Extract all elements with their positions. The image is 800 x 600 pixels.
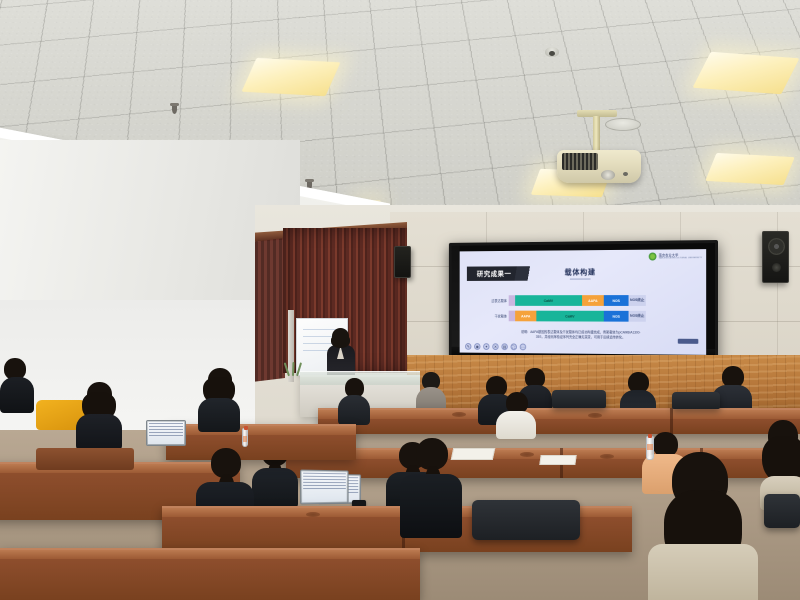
desk-front-panel xyxy=(0,559,420,600)
water-bottle[interactable] xyxy=(242,428,248,447)
construct-block-terminator: NOS xyxy=(604,295,629,306)
water-bottle[interactable] xyxy=(646,436,654,460)
display-bezel-left xyxy=(452,246,460,358)
ceiling-panel-light xyxy=(705,153,795,185)
attendee-torso xyxy=(648,544,758,600)
desk-surface xyxy=(166,426,356,435)
left-wall-speaker xyxy=(394,246,411,278)
projector-vent-grill xyxy=(562,153,598,170)
presentation-toolbar[interactable]: ✎ ◉ ✦ ✕ ▤ ⛶ ⋯ xyxy=(465,343,526,350)
laptop[interactable] xyxy=(146,420,186,446)
logo-name-en: NANJING AGRICULTURAL UNIVERSITY xyxy=(659,257,703,260)
seat-back[interactable] xyxy=(552,390,606,408)
ceiling-smoke-detector-icon xyxy=(545,47,559,57)
slide-canvas[interactable]: 南京农业大学 NANJING AGRICULTURAL UNIVERSITY 研… xyxy=(460,249,706,355)
seat-back[interactable] xyxy=(764,494,800,528)
sprinkler-head xyxy=(172,105,177,114)
ceiling-panel-light xyxy=(692,52,799,94)
eraser-icon[interactable]: ✕ xyxy=(492,343,498,350)
construct-block-promoter: CaMV xyxy=(515,295,582,306)
attendee xyxy=(496,392,536,432)
construct-block-end: NOS终止 xyxy=(629,295,646,306)
attendee-torso xyxy=(338,395,370,425)
gene-construct-row: 过表达载体 CaMV AAPA NOS NOS终止 xyxy=(485,295,646,306)
slide-caption: 说明：AAPA基因的表达载体及干扰载体均已成功构建完成，骨架载体为pCAMBIA… xyxy=(481,330,682,341)
attendee xyxy=(76,382,122,444)
attendee-torso xyxy=(400,474,462,538)
projector-lens xyxy=(601,170,615,180)
desk-surface xyxy=(318,410,800,419)
attendee-torso xyxy=(0,377,34,413)
attendee-torso xyxy=(496,411,536,439)
construct-block-promoter: CaMV xyxy=(536,311,603,322)
laptop-screen-content xyxy=(149,423,183,436)
ceiling-panel-light xyxy=(241,58,340,97)
laptop-screen-content xyxy=(303,473,346,491)
bottle-label xyxy=(647,444,653,450)
pointer-icon[interactable]: ◉ xyxy=(474,343,480,350)
construct-label: 干扰载体 xyxy=(485,313,509,318)
logo-mark-icon xyxy=(649,253,657,261)
attendee xyxy=(760,420,800,500)
laptop-screen xyxy=(302,472,347,503)
wood-slat-panel-side xyxy=(255,238,285,382)
slides-icon[interactable]: ▤ xyxy=(501,343,507,350)
desk-row xyxy=(318,408,800,434)
seat-back[interactable] xyxy=(672,392,720,409)
attendee xyxy=(400,438,462,534)
seat-back[interactable] xyxy=(472,500,580,540)
speaker-tweeter-icon xyxy=(772,263,781,272)
desk-row xyxy=(166,424,356,460)
attendee xyxy=(338,378,370,420)
attendee xyxy=(648,452,758,600)
attendee-torso xyxy=(252,468,298,508)
attendee xyxy=(198,368,240,426)
speaker-cone-icon xyxy=(768,238,785,255)
ceiling-vent xyxy=(605,118,641,131)
attendee-torso xyxy=(198,398,240,432)
construct-block-terminator: NOS xyxy=(604,311,629,322)
desk-surface xyxy=(0,550,420,559)
right-wall-speaker xyxy=(762,231,789,283)
presenter-hair xyxy=(332,328,349,344)
title-underline xyxy=(570,279,591,280)
more-icon[interactable]: ⋯ xyxy=(520,343,526,350)
projector-pole xyxy=(593,116,600,154)
highlight-icon[interactable]: ✦ xyxy=(483,343,489,350)
seat-back[interactable] xyxy=(36,448,134,470)
handout-paper xyxy=(539,455,576,465)
construct-label: 过表达载体 xyxy=(485,298,509,303)
desk-front-panel xyxy=(318,419,800,434)
laptop[interactable] xyxy=(300,470,349,505)
desk-row xyxy=(0,548,420,600)
construct-block-end: NOS终止 xyxy=(629,311,646,322)
cup-holder xyxy=(452,412,466,417)
cup-holder xyxy=(588,413,602,418)
bottle-label xyxy=(243,436,247,442)
lecture-hall-scene: 南京农业大学 NANJING AGRICULTURAL UNIVERSITY 研… xyxy=(0,0,800,600)
attendee xyxy=(0,358,34,410)
cup-holder xyxy=(306,512,320,517)
construct-block-gene: AAPA xyxy=(582,295,604,306)
caption-line-2: 35S，并经测序验证序列完全正确无突变，可用于后续遗传转化。 xyxy=(481,335,682,341)
pen-icon[interactable]: ✎ xyxy=(465,343,471,350)
desk-front-panel xyxy=(166,435,356,460)
potted-plant xyxy=(286,356,300,376)
university-logo: 南京农业大学 NANJING AGRICULTURAL UNIVERSITY xyxy=(649,252,702,260)
construct-block-gene: AAPA xyxy=(515,311,536,322)
cup-holder xyxy=(520,452,534,457)
attendee-torso xyxy=(76,414,122,450)
presentation-display[interactable]: 南京农业大学 NANJING AGRICULTURAL UNIVERSITY 研… xyxy=(449,240,718,363)
laptop-screen xyxy=(148,422,184,444)
projector-status-led xyxy=(623,172,628,176)
desk-divider xyxy=(670,408,673,434)
slide-title: 载体构建 xyxy=(460,266,706,278)
attendee xyxy=(416,372,446,412)
zoom-icon[interactable]: ⛶ xyxy=(511,343,517,350)
slide-footer-badge xyxy=(678,339,699,344)
cup-holder xyxy=(600,454,614,459)
gene-construct-row: 干扰载体 AAPA CaMV NOS NOS终止 xyxy=(485,311,646,322)
